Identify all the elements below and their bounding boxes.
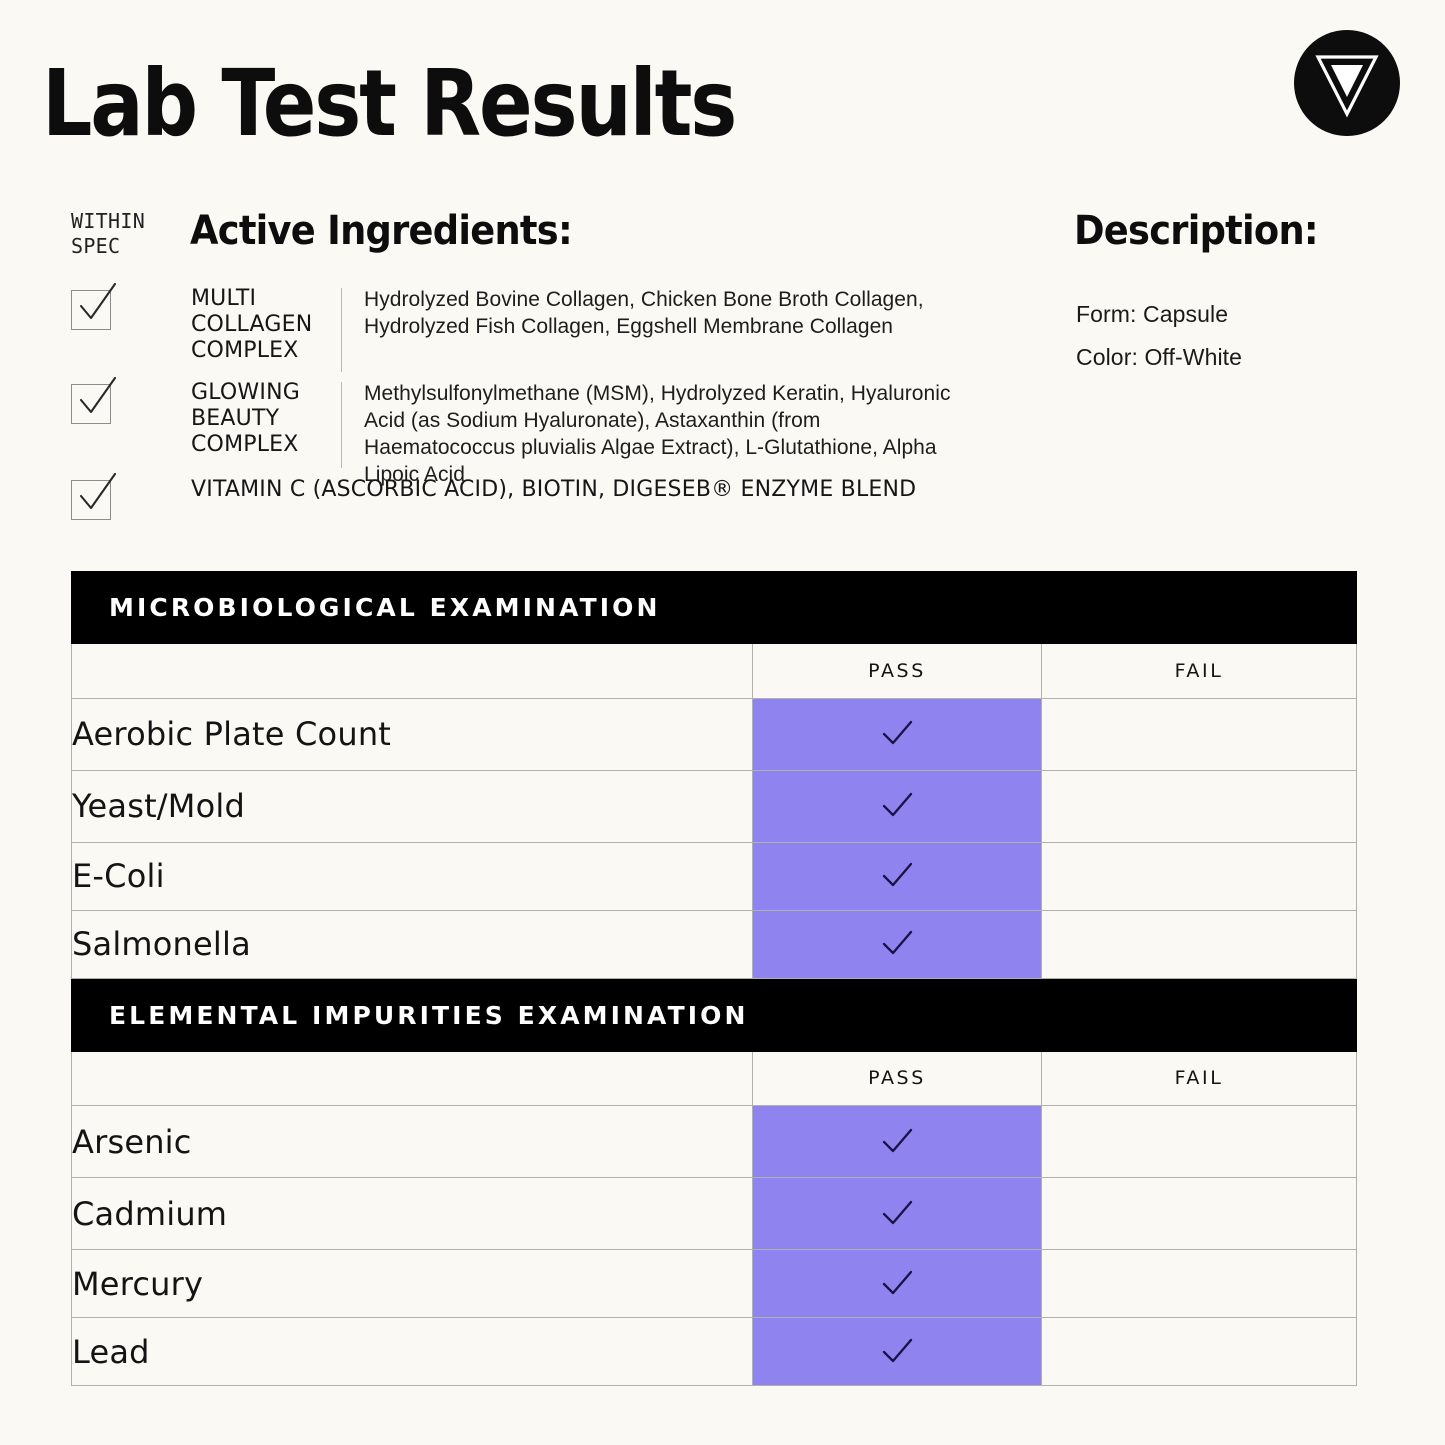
table-band-elemental: ELEMENTAL IMPURITIES EXAMINATION: [71, 979, 1357, 1052]
check-icon: [877, 1127, 917, 1157]
check-icon: [73, 372, 127, 426]
fail-cell[interactable]: [1042, 1318, 1357, 1386]
check-icon: [877, 1337, 917, 1367]
pass-cell[interactable]: [753, 1106, 1042, 1178]
pass-cell[interactable]: [753, 1178, 1042, 1250]
fail-cell[interactable]: [1042, 1250, 1357, 1318]
lab-results-tables: MICROBIOLOGICAL EXAMINATION PASS FAIL Ae…: [71, 571, 1357, 1386]
description-heading: Description:: [1074, 208, 1318, 254]
test-name: Lead: [72, 1318, 753, 1386]
test-name: Aerobic Plate Count: [72, 698, 753, 770]
description-form: Form: Capsule: [1076, 293, 1242, 336]
check-icon: [877, 929, 917, 959]
ingredient-row: MULTICOLLAGENCOMPLEX Hydrolyzed Bovine C…: [71, 286, 971, 380]
page-title: Lab Test Results: [42, 58, 735, 150]
test-name: E-Coli: [72, 842, 753, 910]
table-header-row: PASS FAIL: [72, 1052, 1357, 1106]
column-header-pass: PASS: [753, 1052, 1042, 1106]
pass-cell[interactable]: [753, 1318, 1042, 1386]
pass-cell[interactable]: [753, 842, 1042, 910]
fail-cell[interactable]: [1042, 1106, 1357, 1178]
table-row[interactable]: Lead: [72, 1318, 1357, 1386]
table-band-microbiological: MICROBIOLOGICAL EXAMINATION: [71, 571, 1357, 644]
ingredient-detail: Methylsulfonylmethane (MSM), Hydrolyzed …: [364, 380, 971, 488]
check-icon: [877, 791, 917, 821]
check-icon: [877, 719, 917, 749]
table-row[interactable]: Arsenic: [72, 1106, 1357, 1178]
ingredient-name: GLOWINGBEAUTYCOMPLEX: [191, 380, 341, 458]
pass-cell[interactable]: [753, 910, 1042, 978]
column-header-fail: FAIL: [1042, 1052, 1357, 1106]
ingredient-detail: Hydrolyzed Bovine Collagen, Chicken Bone…: [364, 286, 971, 340]
pass-cell[interactable]: [753, 698, 1042, 770]
ingredient-name: MULTICOLLAGENCOMPLEX: [191, 286, 341, 364]
column-header-fail: FAIL: [1042, 644, 1357, 698]
brand-triangle-logo: [1293, 29, 1401, 137]
ingredient-name: VITAMIN C (ASCORBIC ACID), BIOTIN, DIGES…: [191, 476, 916, 504]
fail-cell[interactable]: [1042, 910, 1357, 978]
table-row[interactable]: Mercury: [72, 1250, 1357, 1318]
ingredient-row: VITAMIN C (ASCORBIC ACID), BIOTIN, DIGES…: [71, 476, 971, 526]
fail-cell[interactable]: [1042, 770, 1357, 842]
within-spec-label: WITHINSPEC: [71, 209, 181, 259]
pass-cell[interactable]: [753, 1250, 1042, 1318]
description-lines: Form: Capsule Color: Off-White: [1076, 293, 1242, 379]
pass-cell[interactable]: [753, 770, 1042, 842]
within-spec-checkbox[interactable]: [71, 384, 113, 424]
description-color: Color: Off-White: [1076, 336, 1242, 379]
test-name: Cadmium: [72, 1178, 753, 1250]
check-icon: [877, 861, 917, 891]
active-ingredients-list: MULTICOLLAGENCOMPLEX Hydrolyzed Bovine C…: [71, 286, 971, 526]
fail-cell[interactable]: [1042, 1178, 1357, 1250]
microbiological-table: PASS FAIL Aerobic Plate Count Yeast/Mold…: [71, 644, 1357, 979]
check-icon: [73, 468, 127, 522]
test-name: Yeast/Mold: [72, 770, 753, 842]
table-row[interactable]: E-Coli: [72, 842, 1357, 910]
check-icon: [877, 1199, 917, 1229]
check-icon: [877, 1269, 917, 1299]
column-header-pass: PASS: [753, 644, 1042, 698]
fail-cell[interactable]: [1042, 842, 1357, 910]
table-row[interactable]: Salmonella: [72, 910, 1357, 978]
within-spec-checkbox[interactable]: [71, 290, 113, 330]
table-row[interactable]: Cadmium: [72, 1178, 1357, 1250]
test-name: Arsenic: [72, 1106, 753, 1178]
check-icon: [73, 278, 127, 332]
test-name: Salmonella: [72, 910, 753, 978]
ingredient-divider: [341, 382, 342, 468]
table-row[interactable]: Aerobic Plate Count: [72, 698, 1357, 770]
ingredient-row: GLOWINGBEAUTYCOMPLEX Methylsulfonylmetha…: [71, 380, 971, 476]
table-row[interactable]: Yeast/Mold: [72, 770, 1357, 842]
column-header-name: [72, 1052, 753, 1106]
table-header-row: PASS FAIL: [72, 644, 1357, 698]
column-header-name: [72, 644, 753, 698]
fail-cell[interactable]: [1042, 698, 1357, 770]
within-spec-checkbox[interactable]: [71, 480, 113, 520]
ingredient-divider: [341, 288, 342, 372]
test-name: Mercury: [72, 1250, 753, 1318]
elemental-impurities-table: PASS FAIL Arsenic Cadmium Mercury: [71, 1052, 1357, 1387]
active-ingredients-heading: Active Ingredients:: [190, 208, 572, 254]
